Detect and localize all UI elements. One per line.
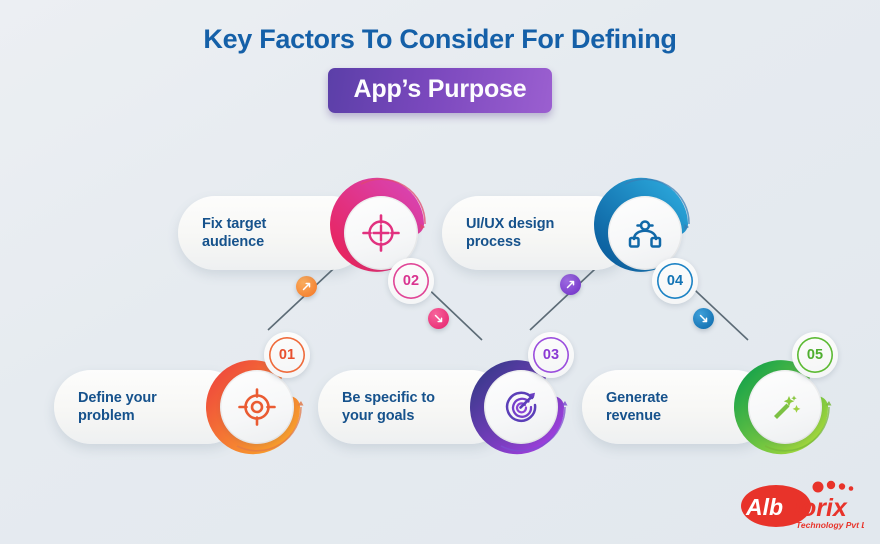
dartboard-arrow-icon bbox=[484, 370, 558, 444]
node-02[interactable]: Fix targetaudience 02 bbox=[186, 158, 416, 308]
magic-wand-sparkle-icon bbox=[748, 370, 822, 444]
logo-name-part2: iorix bbox=[794, 494, 848, 522]
node-05-label: Generaterevenue bbox=[606, 389, 668, 426]
connector-chip-down-right-1 bbox=[428, 308, 449, 329]
connector-chip-down-right-2 bbox=[693, 308, 714, 329]
node-02-ring: 02 bbox=[326, 170, 442, 296]
node-01-label: Define yourproblem bbox=[78, 389, 157, 426]
node-01[interactable]: Define yourproblem 01 bbox=[62, 332, 292, 482]
brand-logo: Alb iorix Technology Pvt Ltd bbox=[734, 478, 864, 534]
node-03-label: Be specific toyour goals bbox=[342, 389, 435, 426]
node-03[interactable]: Be specific toyour goals 03 bbox=[326, 332, 556, 482]
node-05-number-badge: 05 bbox=[792, 332, 838, 378]
node-04-label: UI/UX designprocess bbox=[466, 215, 554, 252]
target-crosshair-icon bbox=[220, 370, 294, 444]
node-04-number-badge: 04 bbox=[652, 258, 698, 304]
node-04-ring: 04 bbox=[590, 170, 706, 296]
node-05-number: 05 bbox=[797, 337, 833, 373]
node-05-ring: 05 bbox=[730, 344, 846, 470]
node-03-ring: 03 bbox=[466, 344, 582, 470]
node-03-number-badge: 03 bbox=[528, 332, 574, 378]
node-01-ring: 01 bbox=[202, 344, 318, 470]
logo-tagline: Technology Pvt Ltd bbox=[796, 520, 864, 530]
node-04[interactable]: UI/UX designprocess 04 bbox=[450, 158, 680, 308]
logo-name-part1: Alb bbox=[745, 494, 783, 520]
node-02-label: Fix targetaudience bbox=[202, 215, 266, 252]
node-03-number: 03 bbox=[533, 337, 569, 373]
node-01-number-badge: 01 bbox=[264, 332, 310, 378]
node-05[interactable]: Generaterevenue 05 bbox=[590, 332, 820, 482]
node-04-number: 04 bbox=[657, 263, 693, 299]
node-02-number: 02 bbox=[393, 263, 429, 299]
node-01-number: 01 bbox=[269, 337, 305, 373]
node-02-number-badge: 02 bbox=[388, 258, 434, 304]
